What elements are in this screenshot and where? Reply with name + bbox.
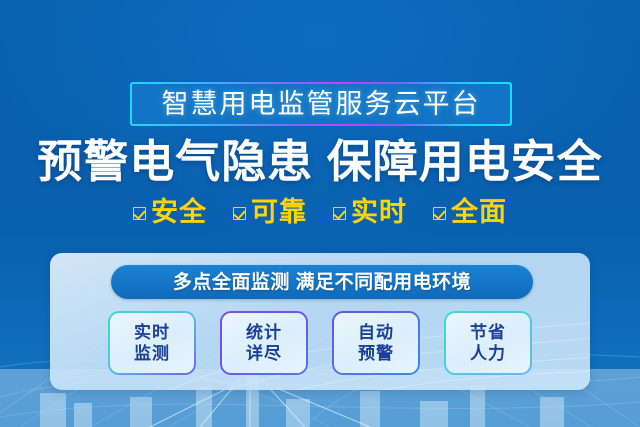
feature-card-save-manpower[interactable]: 节省 人力 <box>444 311 532 375</box>
checkbox-check-icon <box>133 207 146 220</box>
feature-label: 全面 <box>451 199 507 226</box>
feature-card-inner: 统计 详尽 <box>222 313 306 373</box>
feature-item: 实时 <box>333 199 407 226</box>
feature-checklist: 安全 可靠 实时 全面 <box>0 199 640 226</box>
feature-card-line2: 监测 <box>134 344 170 364</box>
feature-card-line1: 自动 <box>358 323 394 343</box>
feature-card-detailed-statistics[interactable]: 统计 详尽 <box>220 311 308 375</box>
monitoring-panel: 多点全面监测 满足不同配用电环境 实时 监测 统计 详尽 自动 预警 <box>50 253 590 390</box>
panel-headline-pill: 多点全面监测 满足不同配用电环境 <box>111 265 533 299</box>
feature-card-line2: 详尽 <box>246 344 282 364</box>
feature-card-inner: 实时 监测 <box>110 313 194 373</box>
feature-label: 可靠 <box>251 199 307 226</box>
poster-canvas: 智慧用电监管服务云平台 预警电气隐患 保障用电安全 安全 可靠 实时 全面 <box>0 0 640 427</box>
panel-headline-text: 多点全面监测 满足不同配用电环境 <box>173 273 471 292</box>
feature-card-realtime-monitoring[interactable]: 实时 监测 <box>108 311 196 375</box>
feature-item: 安全 <box>133 199 207 226</box>
main-headline: 预警电气隐患 保障用电安全 <box>0 138 640 187</box>
platform-title-text: 智慧用电监管服务云平台 <box>162 91 481 118</box>
checkbox-check-icon <box>333 207 346 220</box>
feature-label: 实时 <box>351 199 407 226</box>
feature-card-line1: 统计 <box>246 323 282 343</box>
platform-title-box: 智慧用电监管服务云平台 <box>130 82 512 126</box>
feature-card-line1: 节省 <box>470 323 506 343</box>
feature-card-inner: 自动 预警 <box>334 313 418 373</box>
platform-title-box-inner: 智慧用电监管服务云平台 <box>132 84 510 124</box>
feature-label: 安全 <box>151 199 207 226</box>
feature-item: 可靠 <box>233 199 307 226</box>
feature-card-list: 实时 监测 统计 详尽 自动 预警 节省 人力 <box>50 311 590 375</box>
checkbox-check-icon <box>433 207 446 220</box>
feature-item: 全面 <box>433 199 507 226</box>
feature-card-auto-alarm[interactable]: 自动 预警 <box>332 311 420 375</box>
feature-card-line2: 预警 <box>358 344 394 364</box>
checkbox-check-icon <box>233 207 246 220</box>
feature-card-inner: 节省 人力 <box>446 313 530 373</box>
feature-card-line2: 人力 <box>470 344 506 364</box>
feature-card-line1: 实时 <box>134 323 170 343</box>
